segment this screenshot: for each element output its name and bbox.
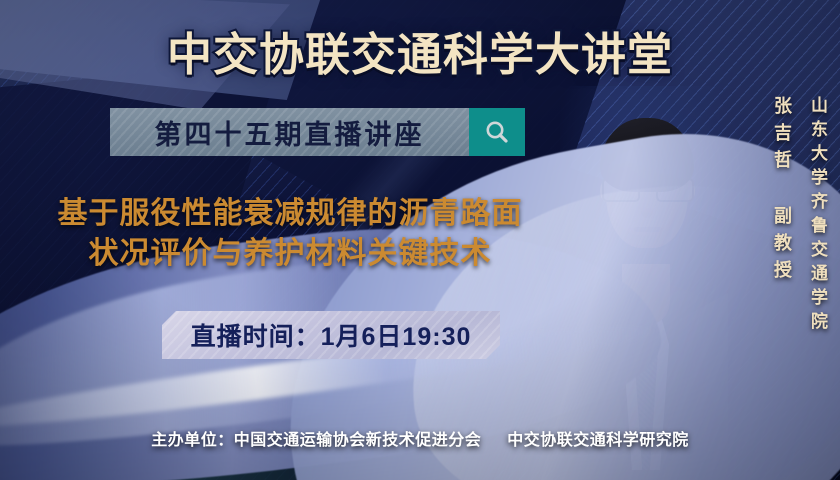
page-title: 中交协联交通科学大讲堂	[0, 18, 840, 83]
live-lecture-poster: 中交协联交通科学大讲堂 第四十五期直播讲座 基于服役性能衰减规律的沥青路面 状况…	[0, 0, 840, 480]
broadcast-time-badge: 直播时间：1月6日19:30	[162, 311, 500, 359]
organizer-name-2: 中交协联交通科学研究院	[507, 432, 689, 449]
search-button[interactable]	[469, 108, 525, 156]
episode-banner: 第四十五期直播讲座	[110, 108, 525, 156]
organizer-prefix: 主办单位：	[151, 432, 234, 449]
speaker-organization: 山东大学齐鲁交通学院	[805, 96, 830, 336]
search-icon	[483, 118, 511, 146]
organizer-name-1: 中国交通运输协会新技术促进分会	[234, 432, 482, 449]
organizer-footer: 主办单位：中国交通运输协会新技术促进分会中交协联交通科学研究院	[0, 426, 840, 450]
speaker-info: 张吉哲 副教授 山东大学齐鲁交通学院	[769, 96, 830, 336]
lecture-topic-line-2: 状况评价与养护材料关键技术	[26, 234, 554, 274]
episode-label: 第四十五期直播讲座	[110, 108, 469, 156]
lecture-topic: 基于服役性能衰减规律的沥青路面 状况评价与养护材料关键技术	[26, 194, 554, 274]
lecture-topic-line-1: 基于服役性能衰减规律的沥青路面	[26, 194, 554, 234]
speaker-name: 张吉哲 副教授	[769, 96, 795, 287]
